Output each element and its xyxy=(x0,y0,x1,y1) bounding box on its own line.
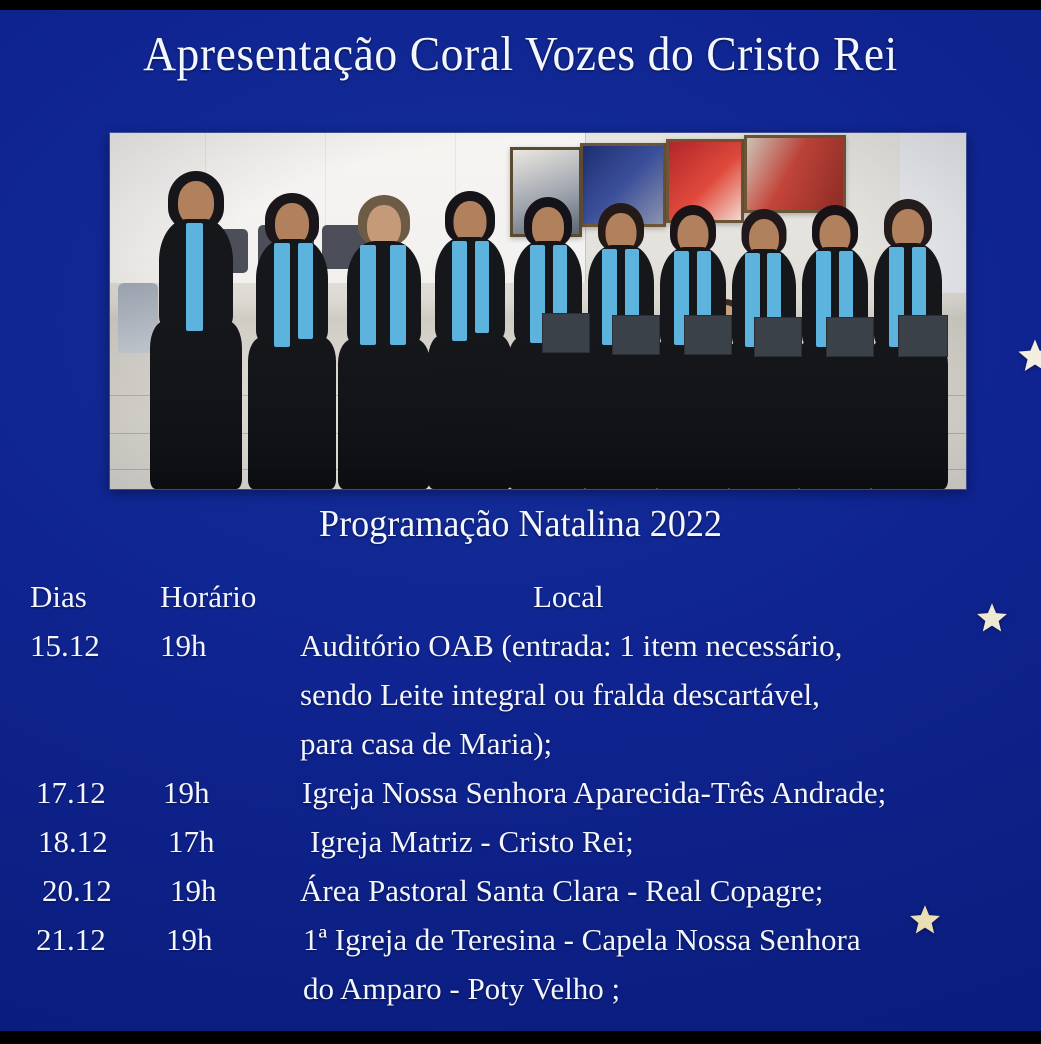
cell-day: 20.12 xyxy=(42,866,172,915)
column-header-place: Local xyxy=(300,572,1041,621)
skirt xyxy=(654,339,732,489)
table-row: 15.12 19h Auditório OAB (entrada: 1 item… xyxy=(0,621,1041,768)
scarf xyxy=(186,223,203,331)
letterbox-top xyxy=(0,0,1041,10)
table-row: 17.12 19h Igreja Nossa Senhora Aparecida… xyxy=(0,768,1041,817)
cell-time: 19h xyxy=(163,768,283,817)
star-bottom-right-icon xyxy=(908,903,942,937)
cell-day: 15.12 xyxy=(30,621,160,670)
torso xyxy=(256,239,328,343)
music-folder xyxy=(542,313,590,353)
cell-place: Área Pastoral Santa Clara - Real Copagre… xyxy=(300,866,1000,915)
skirt xyxy=(796,341,874,489)
column-header-time: Horário xyxy=(160,572,280,621)
cell-place: Igreja Nossa Senhora Aparecida-Três Andr… xyxy=(302,768,1002,817)
music-folder xyxy=(826,317,874,357)
poster-root: Apresentação Coral Vozes do Cristo Rei xyxy=(0,0,1041,1044)
scarf xyxy=(274,243,290,347)
cell-day: 21.12 xyxy=(36,915,166,964)
column-header-day: Dias xyxy=(30,572,160,621)
table-row: 20.12 19h Área Pastoral Santa Clara - Re… xyxy=(0,866,1041,915)
scarf xyxy=(360,245,376,345)
flyer-canvas: Apresentação Coral Vozes do Cristo Rei xyxy=(0,10,1041,1031)
scarf xyxy=(298,243,313,339)
star-mid-right-icon xyxy=(975,601,1009,635)
torso xyxy=(435,237,505,341)
letterbox-bottom xyxy=(0,1031,1041,1044)
cell-place: Auditório OAB (entrada: 1 item necessári… xyxy=(300,621,1000,768)
skirt xyxy=(338,339,430,489)
skirt xyxy=(582,339,660,489)
skirt xyxy=(868,341,948,489)
cell-place: 1ª Igreja de Teresina - Capela Nossa Sen… xyxy=(303,915,1003,1013)
cell-day: 18.12 xyxy=(38,817,168,866)
schedule-table: Dias Horário Local 15.12 19h Auditório O… xyxy=(0,572,1041,1013)
scarf xyxy=(452,241,467,341)
skirt xyxy=(248,337,336,489)
music-folder xyxy=(898,315,948,357)
skirt xyxy=(150,321,242,489)
cell-time: 19h xyxy=(170,866,290,915)
music-folder xyxy=(612,315,660,355)
cell-day: 17.12 xyxy=(36,768,166,817)
scarf xyxy=(390,245,406,345)
cell-place: Igreja Matriz - Cristo Rei; xyxy=(310,817,1010,866)
music-folder xyxy=(684,315,732,355)
table-row: 21.12 19h 1ª Igreja de Teresina - Capela… xyxy=(0,915,1041,1013)
skirt xyxy=(508,337,588,489)
choir-photo xyxy=(110,133,966,489)
skirt xyxy=(726,341,802,489)
star-top-right-icon xyxy=(1016,337,1041,375)
page-title: Apresentação Coral Vozes do Cristo Rei xyxy=(36,24,1004,84)
torso xyxy=(347,241,421,345)
table-header-row: Dias Horário Local xyxy=(0,572,1041,621)
scarf xyxy=(475,241,489,333)
cell-time: 19h xyxy=(166,915,286,964)
subtitle: Programação Natalina 2022 xyxy=(26,500,1015,548)
skirt xyxy=(428,335,512,489)
cell-time: 17h xyxy=(168,817,288,866)
table-row: 18.12 17h Igreja Matriz - Cristo Rei; xyxy=(0,817,1041,866)
music-folder xyxy=(754,317,802,357)
head xyxy=(454,201,487,242)
cell-time: 19h xyxy=(160,621,280,670)
